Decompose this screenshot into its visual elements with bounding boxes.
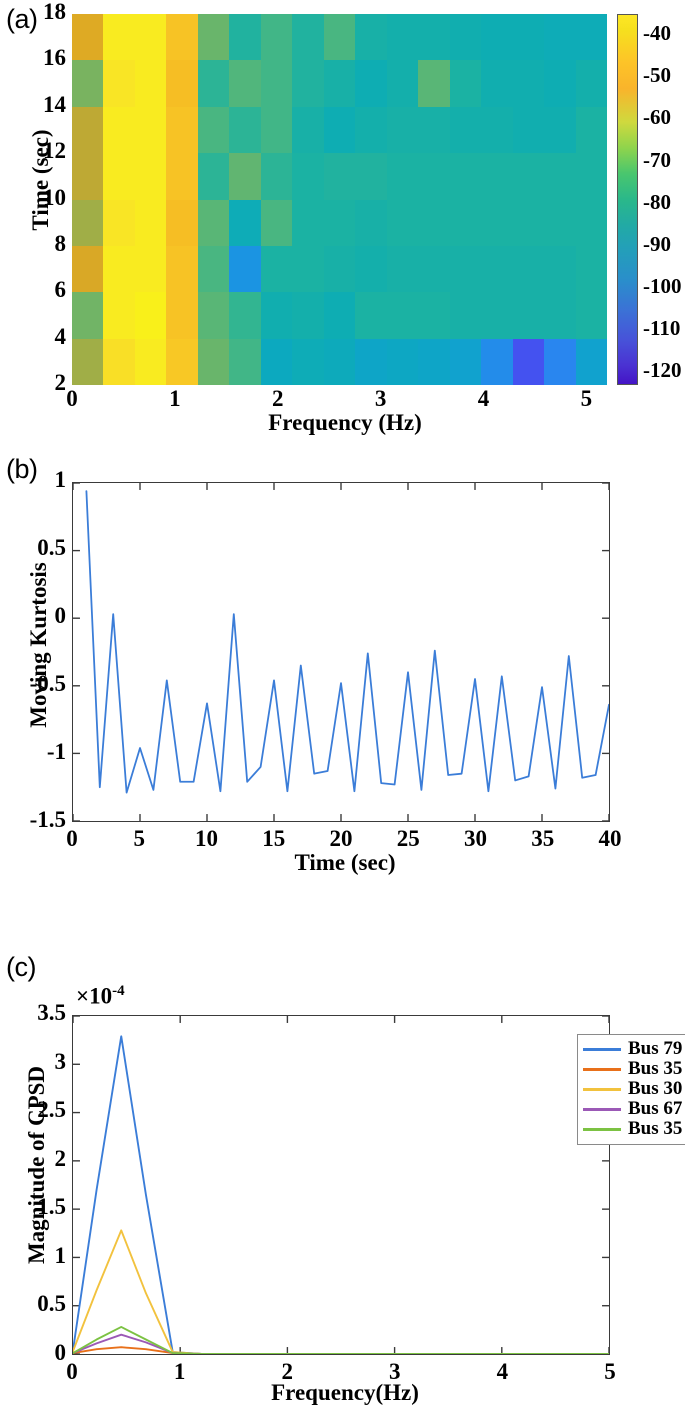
heatmap-cell — [229, 339, 260, 385]
cpsd-legend[interactable]: Bus 79Bus 35Bus 30Bus 67Bus 35 — [577, 1034, 685, 1145]
exponent-prefix: ×10 — [76, 984, 112, 1009]
heatmap-grid — [72, 14, 607, 385]
heatmap-cell — [355, 200, 386, 246]
heatmap-cell — [418, 246, 449, 292]
panel-c-x-tick-1: 1 — [158, 1359, 202, 1385]
colorbar-tick-70: -70 — [643, 148, 671, 173]
heatmap-cell — [387, 246, 418, 292]
heatmap-cell — [72, 153, 103, 199]
panel-b-x-tick-0: 0 — [50, 826, 94, 852]
heatmap-cell — [135, 14, 166, 60]
panel-a-x-tick-0: 0 — [52, 386, 92, 412]
heatmap-cell — [576, 153, 607, 199]
heatmap-cell — [513, 60, 544, 106]
heatmap-cell — [229, 153, 260, 199]
heatmap-cell — [198, 153, 229, 199]
exponent-value: -4 — [112, 983, 125, 999]
heatmap-cell — [229, 14, 260, 60]
heatmap-cell — [324, 107, 355, 153]
colorbar — [617, 14, 638, 385]
legend-label-3: Bus 67 — [628, 1098, 682, 1120]
legend-label-2: Bus 30 — [628, 1078, 682, 1100]
heatmap-cell — [72, 339, 103, 385]
heatmap-cell — [229, 107, 260, 153]
y-axis-exponent: ×10-4 — [76, 983, 125, 1010]
heatmap-cell — [261, 14, 292, 60]
heatmap-cell — [513, 339, 544, 385]
heatmap-cell — [292, 292, 323, 338]
heatmap-cell — [198, 200, 229, 246]
legend-swatch-1 — [583, 1068, 621, 1071]
legend-item-3[interactable]: Bus 67 — [583, 1099, 682, 1119]
heatmap-cell — [450, 200, 481, 246]
heatmap-cell — [72, 246, 103, 292]
heatmap-cell — [103, 339, 134, 385]
heatmap-cell — [72, 292, 103, 338]
heatmap-cell — [261, 200, 292, 246]
heatmap-cell — [135, 292, 166, 338]
heatmap-cell — [576, 292, 607, 338]
heatmap-cell — [450, 107, 481, 153]
heatmap-cell — [135, 200, 166, 246]
heatmap-cell — [355, 107, 386, 153]
panel-c-x-axis-title: Frequency(Hz) — [200, 1380, 490, 1406]
heatmap-cell — [544, 107, 575, 153]
panel-b-x-tick-40: 40 — [588, 826, 632, 852]
legend-item-4[interactable]: Bus 35 — [583, 1119, 682, 1139]
heatmap-cell — [103, 107, 134, 153]
panel-a-spectrogram: (a) 24681012141618 012345 -40-50-60-70-8… — [0, 0, 685, 450]
heatmap-cell — [135, 60, 166, 106]
heatmap-cell — [576, 339, 607, 385]
heatmap-cell — [103, 200, 134, 246]
heatmap-cell — [292, 153, 323, 199]
heatmap-cell — [261, 107, 292, 153]
heatmap-cell — [261, 292, 292, 338]
legend-item-0[interactable]: Bus 79 — [583, 1039, 682, 1059]
panel-b-x-tick-15: 15 — [252, 826, 296, 852]
panel-c-tag: (c) — [6, 952, 36, 983]
panel-a-y-tick-4: 4 — [24, 324, 66, 350]
heatmap-cell — [166, 60, 197, 106]
colorbar-tick-100: -100 — [643, 274, 682, 299]
heatmap-cell — [418, 339, 449, 385]
heatmap-cell — [576, 60, 607, 106]
heatmap-cell — [324, 14, 355, 60]
heatmap-cell — [576, 200, 607, 246]
panel-b-x-tick-10: 10 — [185, 826, 229, 852]
panel-b-x-tick-5: 5 — [117, 826, 161, 852]
legend-label-1: Bus 35 — [628, 1058, 682, 1080]
panel-a-y-tick-18: 18 — [24, 0, 66, 25]
panel-a-x-tick-3: 3 — [361, 386, 401, 412]
heatmap-cell — [418, 107, 449, 153]
heatmap-cell — [324, 339, 355, 385]
panel-b-y-axis-title: Moving Kurtosis — [26, 520, 52, 770]
heatmap-cell — [387, 153, 418, 199]
heatmap-cell — [355, 292, 386, 338]
legend-item-1[interactable]: Bus 35 — [583, 1059, 682, 1079]
heatmap-cell — [418, 60, 449, 106]
heatmap-cell — [135, 339, 166, 385]
heatmap-cell — [135, 107, 166, 153]
heatmap-cell — [387, 60, 418, 106]
colorbar-tick-90: -90 — [643, 232, 671, 257]
heatmap-cell — [261, 153, 292, 199]
heatmap-cell — [355, 14, 386, 60]
panel-a-x-axis-title: Frequency (Hz) — [185, 410, 505, 436]
heatmap-cell — [355, 153, 386, 199]
heatmap-cell — [166, 14, 197, 60]
heatmap-cell — [387, 14, 418, 60]
legend-swatch-3 — [583, 1108, 621, 1111]
panel-a-x-tick-5: 5 — [566, 386, 606, 412]
heatmap-cell — [450, 246, 481, 292]
heatmap-cell — [481, 107, 512, 153]
heatmap-cell — [513, 107, 544, 153]
heatmap-cell — [513, 14, 544, 60]
heatmap-cell — [418, 153, 449, 199]
legend-swatch-2 — [583, 1088, 621, 1091]
heatmap-cell — [481, 153, 512, 199]
heatmap-cell — [198, 107, 229, 153]
heatmap-cell — [355, 60, 386, 106]
cpsd-series-bus-79 — [73, 1036, 609, 1354]
heatmap-cell — [481, 246, 512, 292]
panel-a-y-axis-title: Time (sec) — [28, 70, 54, 290]
heatmap-cell — [103, 246, 134, 292]
heatmap-cell — [198, 292, 229, 338]
heatmap-cell — [166, 292, 197, 338]
heatmap-cell — [72, 14, 103, 60]
heatmap-cell — [261, 246, 292, 292]
heatmap-cell — [198, 339, 229, 385]
panel-b-x-tick-30: 30 — [454, 826, 498, 852]
heatmap-cell — [450, 153, 481, 199]
heatmap-cell — [324, 200, 355, 246]
heatmap-cell — [481, 200, 512, 246]
heatmap-cell — [198, 246, 229, 292]
heatmap-cell — [481, 14, 512, 60]
legend-label-4: Bus 35 — [628, 1118, 682, 1140]
panel-c-x-tick-0: 0 — [50, 1359, 94, 1385]
heatmap-cell — [292, 246, 323, 292]
heatmap-cell — [103, 292, 134, 338]
panel-a-y-tick-16: 16 — [24, 45, 66, 71]
heatmap-cell — [72, 107, 103, 153]
colorbar-tick-60: -60 — [643, 105, 671, 130]
heatmap-cell — [513, 200, 544, 246]
heatmap-cell — [544, 292, 575, 338]
heatmap-cell — [418, 200, 449, 246]
colorbar-tick-120: -120 — [643, 358, 682, 383]
heatmap-cell — [229, 60, 260, 106]
heatmap-cell — [135, 246, 166, 292]
heatmap-cell — [166, 339, 197, 385]
panel-a-x-tick-4: 4 — [464, 386, 504, 412]
heatmap-cell — [544, 246, 575, 292]
heatmap-cell — [544, 339, 575, 385]
heatmap-cell — [355, 246, 386, 292]
legend-label-0: Bus 79 — [628, 1038, 682, 1060]
colorbar-tick-110: -110 — [643, 316, 680, 341]
panel-b-x-tick-25: 25 — [386, 826, 430, 852]
colorbar-tick-80: -80 — [643, 190, 671, 215]
heatmap-cell — [387, 292, 418, 338]
panel-b-x-axis-title: Time (sec) — [200, 850, 490, 876]
heatmap-cell — [324, 246, 355, 292]
panel-b-y-tick-1: 1 — [4, 467, 66, 493]
heatmap-cell — [261, 339, 292, 385]
heatmap-cell — [450, 60, 481, 106]
cpsd-line-svg — [73, 1016, 609, 1354]
heatmap-cell — [481, 292, 512, 338]
colorbar-tick-50: -50 — [643, 63, 671, 88]
heatmap-cell — [544, 200, 575, 246]
heatmap-cell — [576, 246, 607, 292]
heatmap-cell — [544, 60, 575, 106]
heatmap-cell — [292, 339, 323, 385]
heatmap-cell — [72, 200, 103, 246]
heatmap-cell — [166, 153, 197, 199]
heatmap-cell — [450, 339, 481, 385]
panel-b-moving-kurtosis: (b) -1.5-1-0.500.51 0510152025303540 Tim… — [0, 450, 685, 910]
heatmap-cell — [103, 153, 134, 199]
heatmap-cell — [198, 60, 229, 106]
panel-a-x-tick-1: 1 — [155, 386, 195, 412]
heatmap-cell — [292, 14, 323, 60]
heatmap-cell — [324, 292, 355, 338]
heatmap-cell — [418, 14, 449, 60]
panel-b-x-tick-35: 35 — [521, 826, 565, 852]
heatmap-cell — [387, 339, 418, 385]
heatmap-cell — [166, 107, 197, 153]
heatmap-cell — [229, 246, 260, 292]
legend-swatch-0 — [583, 1048, 621, 1051]
legend-item-2[interactable]: Bus 30 — [583, 1079, 682, 1099]
heatmap-cell — [513, 153, 544, 199]
heatmap-cell — [292, 107, 323, 153]
cpsd-series-bus-35 — [73, 1347, 609, 1354]
heatmap-cell — [544, 14, 575, 60]
panel-c-y-axis-title: Magnitude of CPSD — [24, 1000, 50, 1330]
heatmap-plot-area — [72, 14, 607, 385]
panel-c-x-tick-5: 5 — [588, 1359, 632, 1385]
heatmap-cell — [103, 60, 134, 106]
panel-c-cpsd: (c) ×10-4 Bus 79Bus 35Bus 30Bus 67Bus 35… — [0, 910, 685, 1418]
legend-swatch-4 — [583, 1128, 621, 1131]
heatmap-cell — [576, 107, 607, 153]
kurtosis-series-line — [86, 491, 609, 792]
panel-a-x-tick-2: 2 — [258, 386, 298, 412]
heatmap-cell — [229, 292, 260, 338]
heatmap-cell — [387, 107, 418, 153]
heatmap-cell — [324, 60, 355, 106]
heatmap-cell — [387, 200, 418, 246]
heatmap-cell — [544, 153, 575, 199]
heatmap-cell — [576, 14, 607, 60]
heatmap-cell — [450, 14, 481, 60]
heatmap-cell — [72, 60, 103, 106]
heatmap-cell — [481, 60, 512, 106]
heatmap-cell — [198, 14, 229, 60]
heatmap-cell — [355, 339, 386, 385]
colorbar-tick-40: -40 — [643, 21, 671, 46]
heatmap-cell — [418, 292, 449, 338]
heatmap-cell — [229, 200, 260, 246]
heatmap-cell — [166, 246, 197, 292]
panel-b-x-tick-20: 20 — [319, 826, 363, 852]
heatmap-cell — [513, 292, 544, 338]
heatmap-cell — [324, 153, 355, 199]
heatmap-cell — [103, 14, 134, 60]
cpsd-plot-area: Bus 79Bus 35Bus 30Bus 67Bus 35 — [72, 1015, 610, 1355]
heatmap-cell — [513, 246, 544, 292]
cpsd-series-bus-30 — [73, 1230, 609, 1354]
heatmap-cell — [135, 153, 166, 199]
heatmap-cell — [450, 292, 481, 338]
heatmap-cell — [292, 200, 323, 246]
kurtosis-plot-area — [72, 482, 610, 822]
heatmap-cell — [292, 60, 323, 106]
heatmap-cell — [261, 60, 292, 106]
kurtosis-line-svg — [73, 483, 609, 821]
heatmap-cell — [481, 339, 512, 385]
heatmap-cell — [166, 200, 197, 246]
